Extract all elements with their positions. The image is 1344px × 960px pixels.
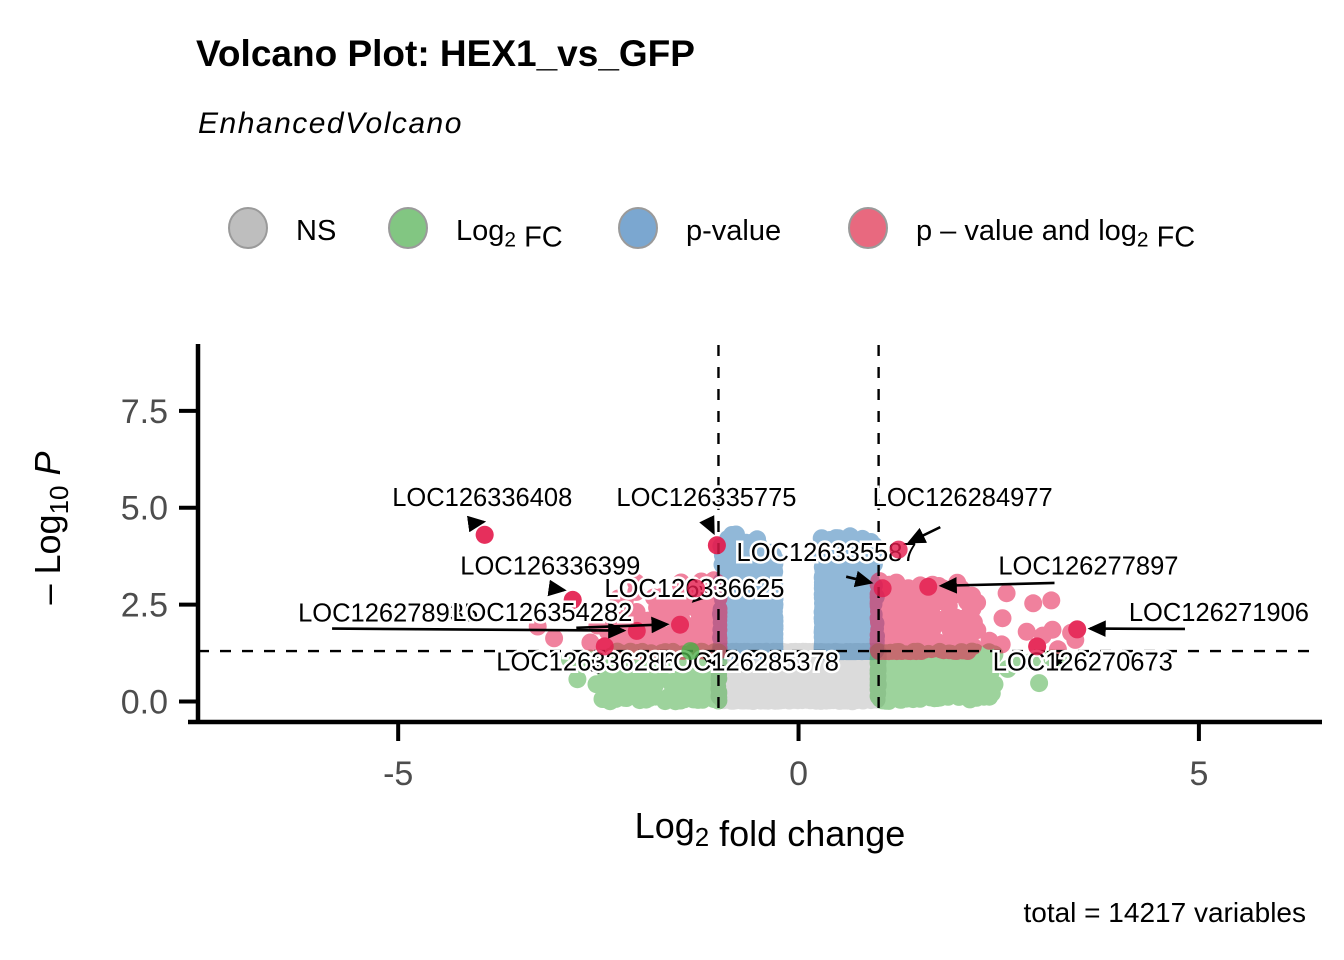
gene-label-annotation[interactable]: LOC126336625 <box>604 575 784 603</box>
legend-swatch <box>849 208 887 248</box>
total-variables-caption: total = 14217 variables <box>1023 897 1306 928</box>
x-axis-tick-label: -5 <box>383 755 413 793</box>
y-axis-tick-label: 2.5 <box>121 587 168 625</box>
gene-label: LOC126284977 <box>873 484 1053 512</box>
highlighted-point[interactable] <box>919 578 937 596</box>
highlighted-point[interactable] <box>708 536 726 554</box>
gene-label: LOC126335775 <box>616 484 796 512</box>
volcano-plot-figure: Volcano Plot: HEX1_vs_GFP EnhancedVolcan… <box>0 0 1344 960</box>
label-connector-line <box>558 589 564 590</box>
legend-label: p-value <box>686 215 781 247</box>
legend-swatch <box>389 208 427 248</box>
page-title: Volcano Plot: HEX1_vs_GFP <box>196 33 695 74</box>
gene-label: LOC126277897 <box>998 552 1178 580</box>
x-axis-tick-label: 5 <box>1189 755 1208 793</box>
y-axis-tick-label: 5.0 <box>121 490 168 528</box>
highlighted-point[interactable] <box>681 642 699 660</box>
highlighted-point[interactable] <box>1028 637 1046 655</box>
highlighted-point[interactable] <box>890 541 908 559</box>
legend-swatch <box>619 208 657 248</box>
y-axis-title: – Log10 P <box>27 451 74 604</box>
legend-label: NS <box>296 215 336 247</box>
gene-label: LOC126271906 <box>1129 599 1309 627</box>
highlighted-point[interactable] <box>1068 620 1086 638</box>
plot-subtitle: EnhancedVolcano <box>198 107 463 140</box>
x-axis-tick-label: 0 <box>789 755 808 793</box>
highlighted-point[interactable] <box>874 579 892 597</box>
highlighted-point[interactable] <box>687 579 705 597</box>
gene-label: LOC126335587 <box>737 539 917 567</box>
gene-label: LOC126270673 <box>993 648 1173 676</box>
highlighted-point[interactable] <box>596 637 614 655</box>
y-axis-tick-label: 0.0 <box>121 683 168 721</box>
gene-label: LOC126278935 <box>298 600 478 628</box>
y-axis-tick-label: 7.5 <box>121 393 168 431</box>
highlighted-point[interactable] <box>476 526 494 544</box>
gene-label: LOC126336408 <box>392 484 572 512</box>
gene-label: LOC126354282 <box>452 599 632 627</box>
highlighted-point[interactable] <box>671 616 689 634</box>
gene-label: LOC126336286 <box>496 648 676 676</box>
legend-swatch <box>229 208 267 248</box>
